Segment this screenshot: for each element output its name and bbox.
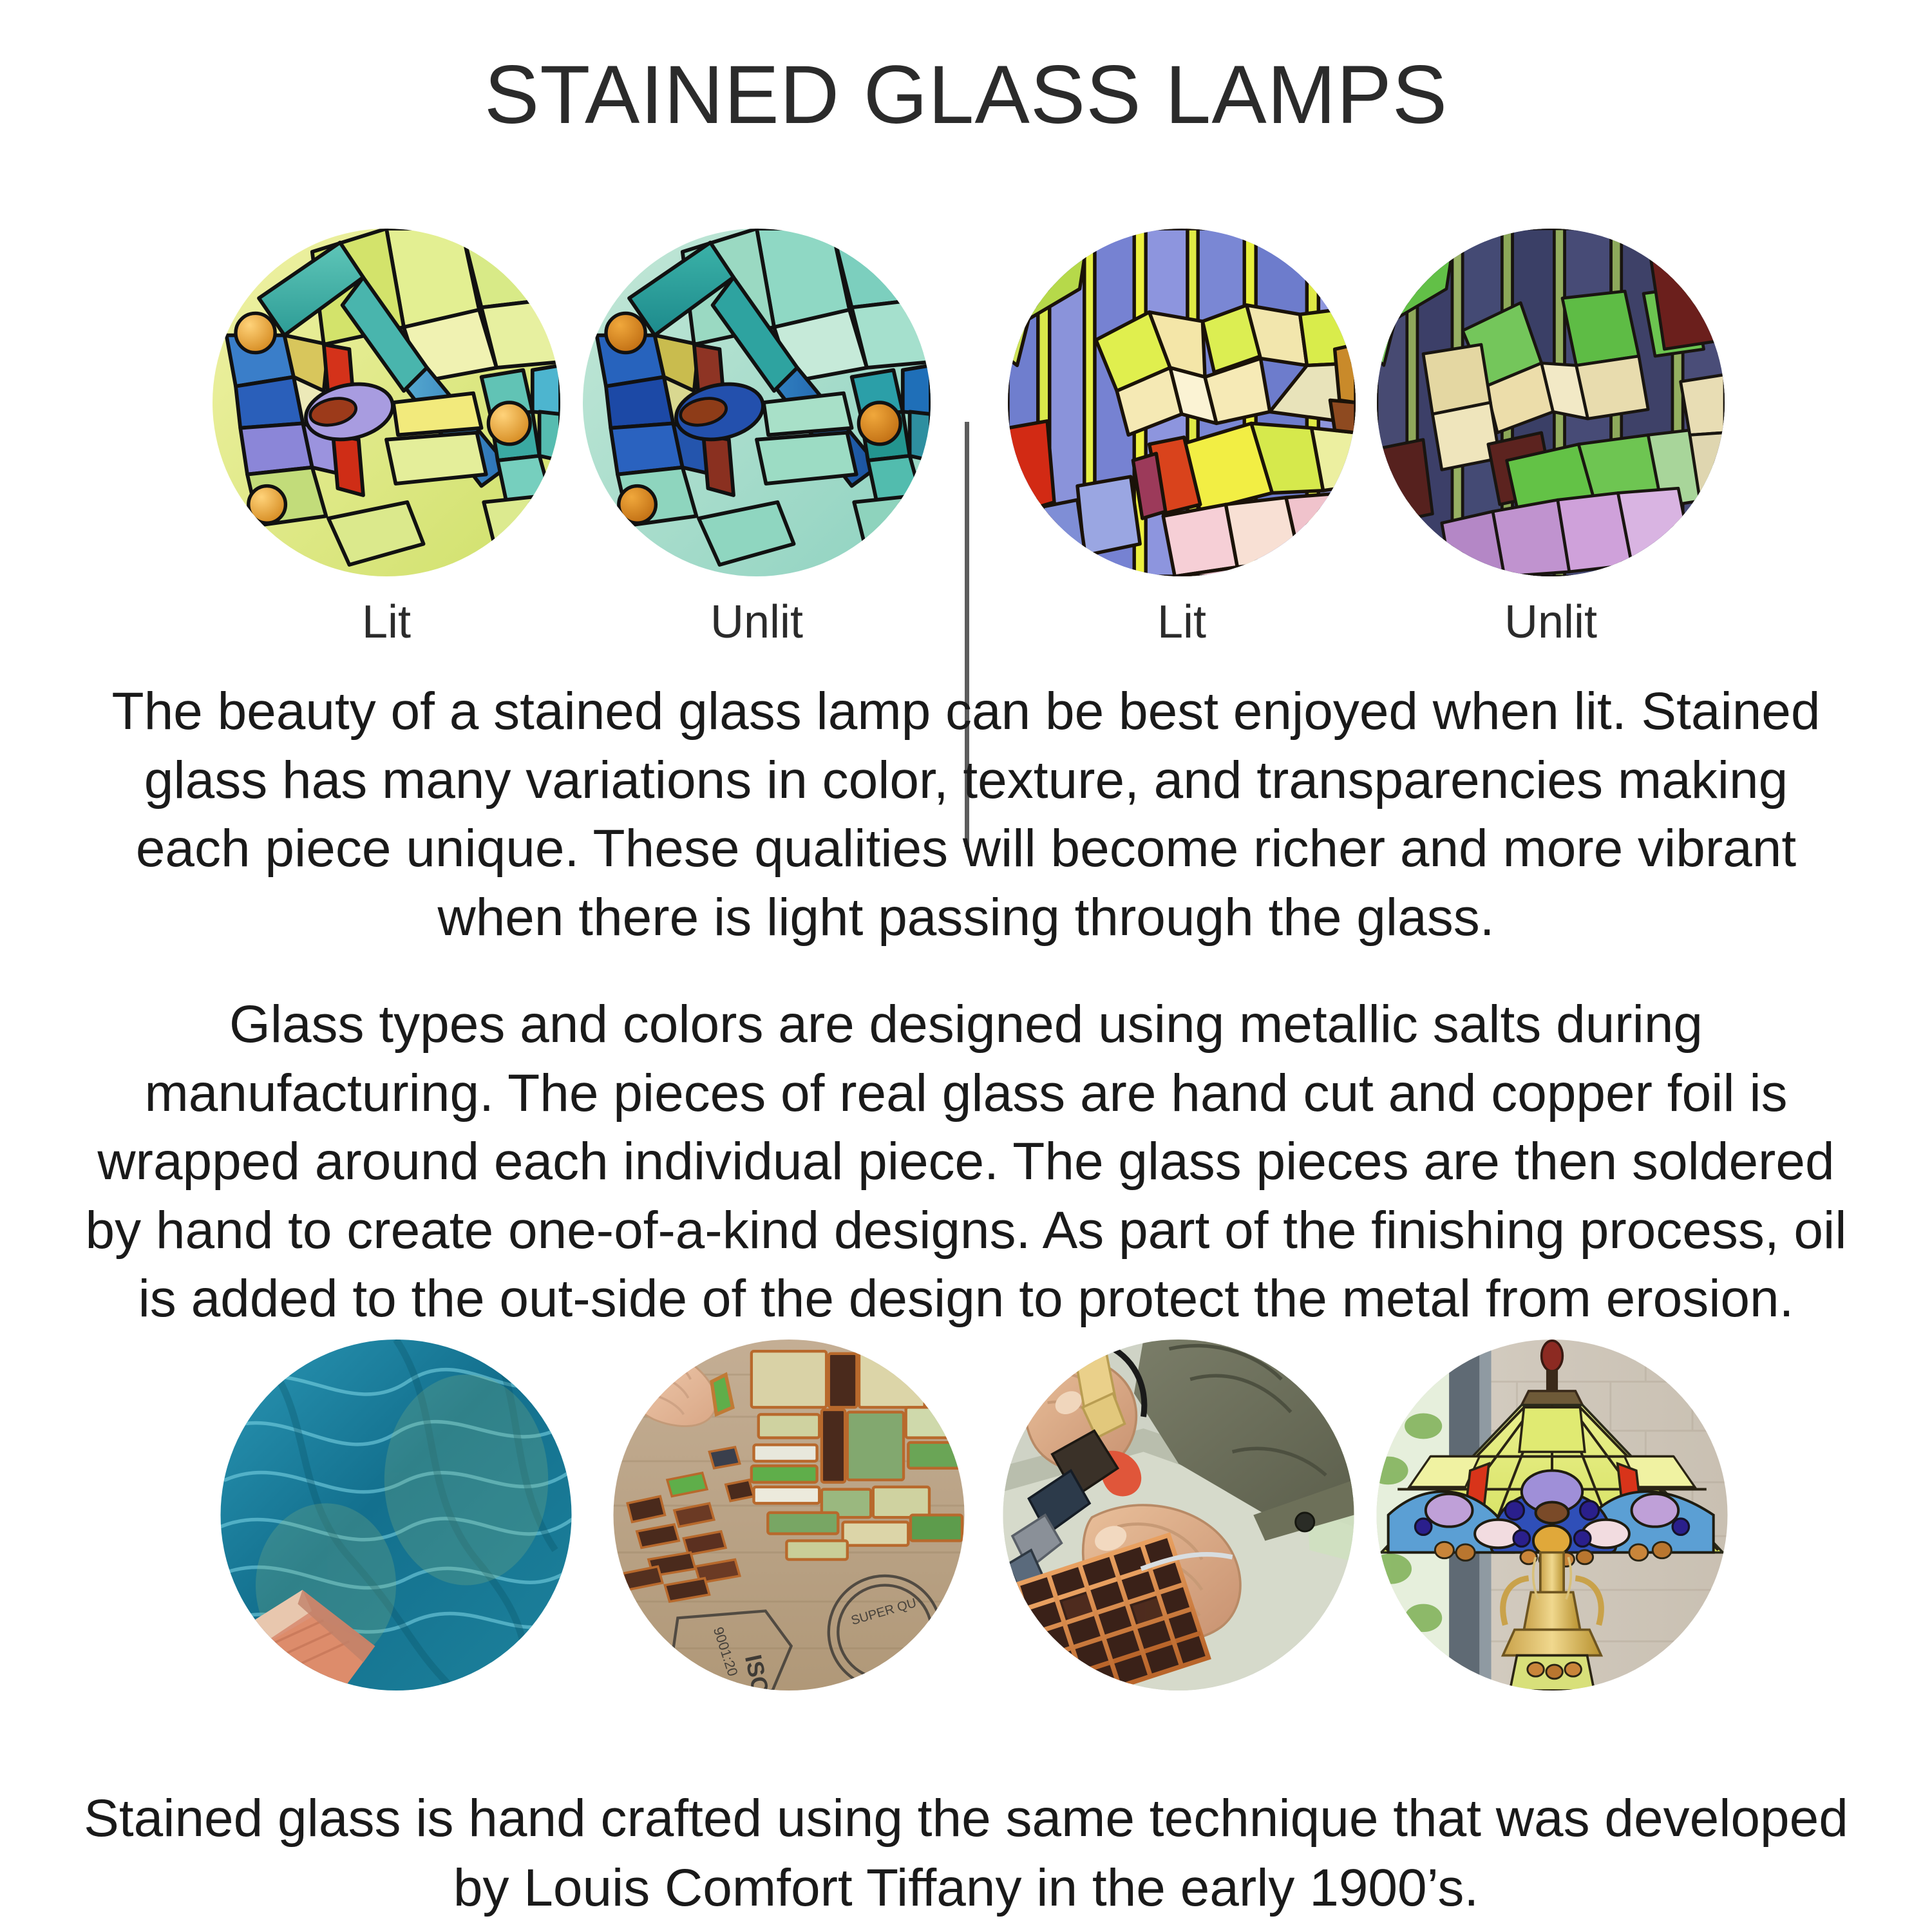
process-step-copper-foiling: SUPER QU 9001:20 ISO	[602, 1340, 976, 1700]
label-floral-lit: Lit	[995, 596, 1368, 649]
body-paragraph-1: The beauty of a stained glass lamp can b…	[84, 677, 1848, 952]
comparison-image-row	[0, 229, 1932, 589]
label-geometric-lit: Lit	[200, 596, 573, 649]
image-finished-lamp	[1377, 1340, 1728, 1690]
image-hand-soldering	[1003, 1340, 1354, 1690]
image-copper-foiling: SUPER QU 9001:20 ISO	[614, 1340, 965, 1690]
process-step-finished-lamp	[1365, 1340, 1739, 1700]
label-floral-unlit: Unlit	[1364, 596, 1738, 649]
image-floral-lamp-unlit	[1377, 229, 1725, 576]
footer-caption: Stained glass is hand crafted using the …	[84, 1784, 1848, 1923]
comparison-panel-floral-unlit	[1364, 229, 1738, 589]
label-geometric-unlit: Unlit	[570, 596, 943, 649]
body-paragraph-2: Glass types and colors are designed usin…	[84, 990, 1848, 1334]
comparison-panel-geometric-unlit	[570, 229, 943, 589]
page-title: STAINED GLASS LAMPS	[0, 54, 1932, 137]
process-step-hand-soldering	[992, 1340, 1365, 1700]
image-geometric-lamp-lit	[213, 229, 560, 576]
image-raw-glass-sheets	[221, 1340, 572, 1690]
process-step-raw-glass	[209, 1340, 583, 1700]
comparison-label-row: Lit Unlit Lit Unlit	[0, 596, 1932, 673]
image-geometric-lamp-unlit	[583, 229, 931, 576]
comparison-panel-geometric-lit	[200, 229, 573, 589]
infographic-page: STAINED GLASS LAMPS	[0, 0, 1932, 1932]
comparison-panel-floral-lit	[995, 229, 1368, 589]
image-floral-lamp-lit	[1008, 229, 1356, 576]
process-image-row: SUPER QU 9001:20 ISO	[0, 1340, 1932, 1700]
